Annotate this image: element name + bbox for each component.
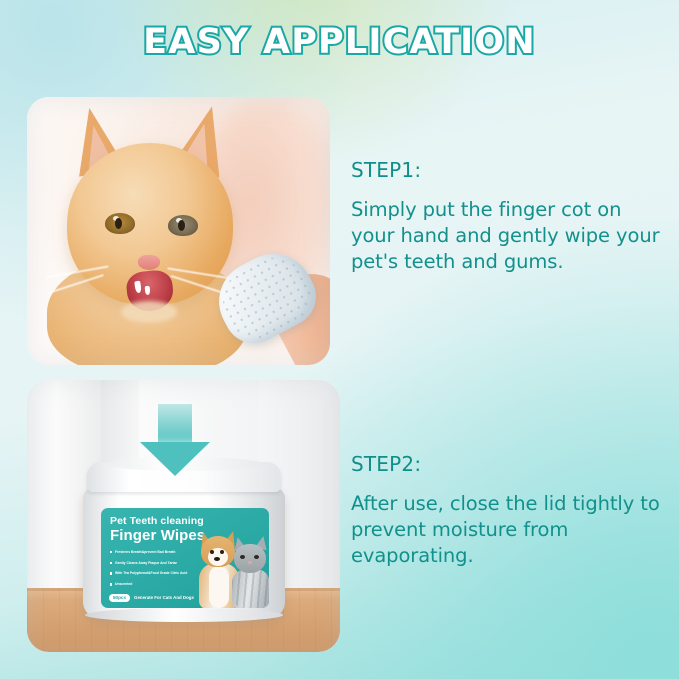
dog-chest xyxy=(209,566,229,608)
cat-nose xyxy=(138,255,160,270)
cat-eye-left xyxy=(105,213,135,234)
cat-photo xyxy=(27,97,330,365)
step2-text-block: STEP2: After use, close the lid tightly … xyxy=(351,452,669,569)
cat-icon-label xyxy=(231,542,269,608)
dog-eye-left xyxy=(210,550,214,554)
page-title: EASY APPLICATION xyxy=(143,22,536,62)
jar-icon: Pet Teeth cleaning Finger Wipes Freshens… xyxy=(83,462,285,622)
step1-heading: STEP1: xyxy=(351,158,661,182)
product-title-line2: Finger Wipes xyxy=(110,527,205,544)
cat-chin xyxy=(121,301,177,323)
page-title-container: EASY APPLICATION xyxy=(0,22,679,62)
step1-body: Simply put the finger cot on your hand a… xyxy=(351,197,661,275)
product-title-line1: Pet Teeth cleaning xyxy=(110,515,204,527)
arrow-stem xyxy=(158,404,192,444)
product-footer-text: Generate For Cats And Dogs xyxy=(134,595,194,600)
cat-eye-right xyxy=(168,215,198,236)
dog-eye-right xyxy=(220,550,224,554)
cat-eye-right xyxy=(254,555,259,559)
cat-stripes xyxy=(232,569,269,608)
step1-photo-card xyxy=(27,97,330,365)
product-label: Pet Teeth cleaning Finger Wipes Freshens… xyxy=(101,508,269,608)
cat-nose xyxy=(248,561,252,564)
cat-icon xyxy=(49,105,255,365)
easy-application-infographic: EASY APPLICATION xyxy=(0,0,679,679)
jar-bottom xyxy=(85,608,283,622)
product-label-footer: 50pcs Generate For Cats And Dogs xyxy=(109,594,194,602)
dog-nose xyxy=(214,557,220,561)
product-count-badge: 50pcs xyxy=(109,594,130,602)
down-arrow-icon xyxy=(140,404,210,476)
arrow-head xyxy=(140,442,210,476)
step2-body: After use, close the lid tightly to prev… xyxy=(351,491,669,569)
cat-eye-left xyxy=(240,555,245,559)
cat-body xyxy=(232,569,269,608)
pets-illustration xyxy=(197,530,269,608)
step2-heading: STEP2: xyxy=(351,452,669,476)
cat-tooth xyxy=(145,286,151,295)
cat-head xyxy=(234,544,266,573)
step1-text-block: STEP1: Simply put the finger cot on your… xyxy=(351,158,661,275)
